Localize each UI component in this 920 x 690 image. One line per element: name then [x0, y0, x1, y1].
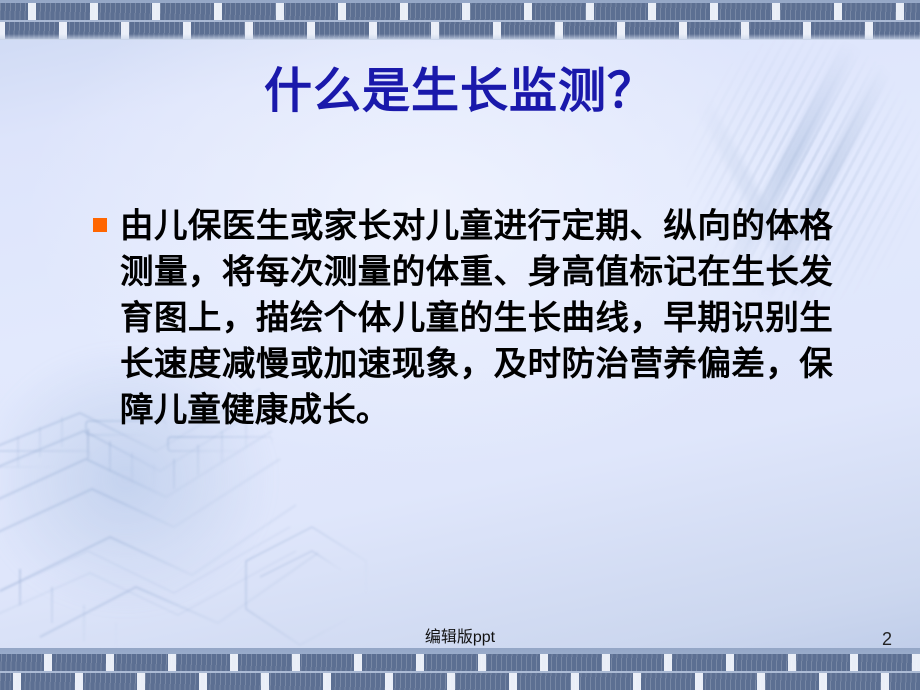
brick-row	[0, 22, 920, 39]
bottom-brick-border	[0, 648, 920, 690]
brick-row	[0, 673, 920, 690]
brick-row	[0, 3, 920, 20]
square-bullet-icon	[93, 218, 107, 232]
top-brick-border	[0, 0, 920, 40]
slide-title: 什么是生长监测？	[0, 64, 920, 121]
brick-row	[0, 654, 920, 671]
body-bullet-item: 由儿保医生或家长对儿童进行定期、纵向的体格测量，将每次测量的体重、身高值标记在生…	[93, 204, 833, 434]
footer-note: 编辑版ppt	[0, 630, 920, 646]
body-paragraph: 由儿保医生或家长对儿童进行定期、纵向的体格测量，将每次测量的体重、身高值标记在生…	[120, 204, 833, 434]
page-number: 2	[882, 630, 892, 648]
slide-canvas: 什么是生长监测？ 由儿保医生或家长对儿童进行定期、纵向的体格测量，将每次测量的体…	[0, 0, 920, 690]
